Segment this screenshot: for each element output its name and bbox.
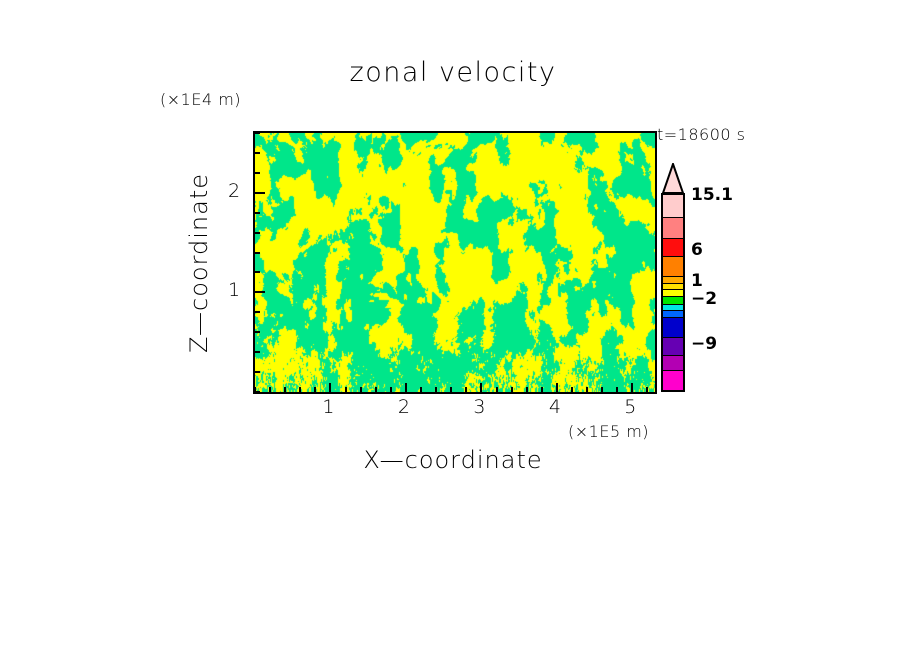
y-axis-tick-label: 2 bbox=[228, 180, 240, 202]
x-axis-tick bbox=[345, 387, 347, 392]
colorbar-label: −9 bbox=[691, 334, 717, 354]
x-axis-tick bbox=[526, 387, 528, 392]
colorbar-label: 1 bbox=[691, 271, 703, 291]
x-axis-tick bbox=[631, 383, 633, 392]
time-annotation: t=18600 s bbox=[657, 125, 746, 144]
x-axis-tick bbox=[586, 387, 588, 392]
x-axis-tick-label: 1 bbox=[322, 396, 334, 418]
y-axis-tick bbox=[255, 331, 260, 333]
y-axis-tick bbox=[255, 311, 260, 313]
colorbar-band bbox=[663, 370, 683, 390]
y-axis-tick bbox=[255, 371, 260, 373]
colorbar-band bbox=[663, 296, 683, 304]
plot-area[interactable] bbox=[253, 131, 657, 394]
x-axis-tick bbox=[375, 387, 377, 392]
x-axis-tick bbox=[314, 387, 316, 392]
y-axis-tick-label: 1 bbox=[228, 279, 240, 301]
x-axis-tick bbox=[450, 387, 452, 392]
x-axis-tick bbox=[435, 387, 437, 392]
x-axis-tick-label: 4 bbox=[549, 396, 561, 418]
x-axis-tick bbox=[601, 387, 603, 392]
x-axis-tick bbox=[511, 387, 513, 392]
y-axis-tick bbox=[255, 192, 265, 194]
x-axis-tick bbox=[405, 383, 407, 392]
colorbar-band bbox=[663, 195, 683, 217]
x-axis-tick-label: 5 bbox=[624, 396, 636, 418]
colorbar-label: 15.1 bbox=[691, 185, 733, 205]
colorbar-label: 6 bbox=[691, 240, 703, 260]
colorbar-band bbox=[663, 355, 683, 370]
x-axis-tick bbox=[571, 387, 573, 392]
y-axis-tick bbox=[255, 351, 260, 353]
colorbar-arrow-icon bbox=[661, 163, 685, 193]
page-title: zonal velocity bbox=[253, 57, 653, 88]
x-axis-tick bbox=[496, 387, 498, 392]
y-axis-tick bbox=[255, 212, 260, 214]
colorbar-bands bbox=[661, 193, 685, 392]
x-axis-tick bbox=[329, 383, 331, 392]
x-axis-tick bbox=[556, 383, 558, 392]
y-axis-tick bbox=[255, 232, 260, 234]
x-axis-tick bbox=[616, 387, 618, 392]
x-axis-tick bbox=[465, 387, 467, 392]
colorbar-band bbox=[663, 217, 683, 237]
y-axis-tick bbox=[255, 291, 265, 293]
colorbar-band bbox=[663, 337, 683, 355]
y-axis-tick bbox=[255, 132, 260, 134]
colorbar-label: −2 bbox=[691, 289, 717, 309]
x-axis-tick bbox=[390, 387, 392, 392]
x-axis-title: X—coordinate bbox=[253, 446, 653, 474]
y-axis-tick bbox=[255, 152, 260, 154]
x-axis-unit-label: (×1E5 m) bbox=[568, 422, 649, 441]
colorbar-band bbox=[663, 317, 683, 337]
y-axis-title: Z—coordinate bbox=[185, 170, 209, 355]
x-axis-tick bbox=[269, 387, 271, 392]
y-axis-tick bbox=[255, 172, 260, 174]
y-axis-tick bbox=[255, 252, 260, 254]
colorbar-band bbox=[663, 256, 683, 276]
colorbar-band bbox=[663, 238, 683, 256]
y-axis-tick bbox=[255, 391, 260, 393]
x-axis-tick bbox=[420, 387, 422, 392]
x-axis-tick bbox=[299, 387, 301, 392]
x-axis-tick-label: 2 bbox=[398, 396, 410, 418]
x-axis-tick bbox=[360, 387, 362, 392]
x-axis-tick bbox=[541, 387, 543, 392]
x-axis-tick bbox=[284, 387, 286, 392]
x-axis-tick-label: 3 bbox=[473, 396, 485, 418]
velocity-field-heatmap bbox=[255, 133, 655, 392]
x-axis-tick bbox=[646, 387, 648, 392]
colorbar[interactable] bbox=[661, 163, 685, 392]
x-axis-tick bbox=[480, 383, 482, 392]
figure-canvas: zonal velocity (×1E4 m) t=18600 s X—coor… bbox=[0, 0, 904, 654]
y-axis-unit-label: (×1E4 m) bbox=[160, 90, 241, 109]
y-axis-tick bbox=[255, 271, 260, 273]
